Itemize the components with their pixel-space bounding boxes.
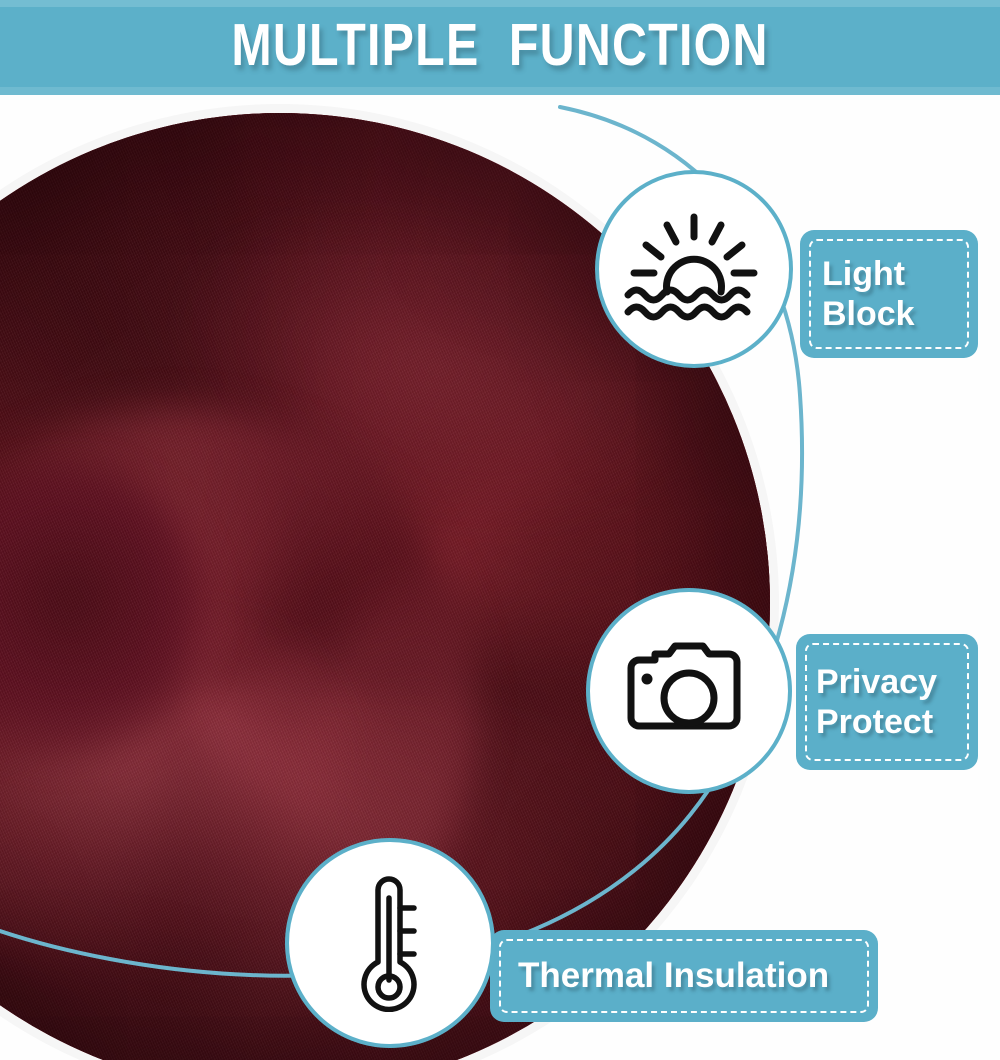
badge-label-thermal-insulation: Thermal Insulation (490, 930, 878, 1022)
thermometer-icon (347, 874, 433, 1012)
product-feature-infographic: MULTIPLE FUNCTION Light Block Privacy Pr… (0, 0, 1000, 1060)
sunrise-icon (624, 208, 764, 330)
badge-line-1: Privacy (816, 662, 937, 702)
feature-badge-privacy-protect[interactable]: Privacy Protect (796, 634, 978, 770)
badge-label-light-block: Light Block (800, 230, 978, 358)
camera-icon (625, 640, 753, 742)
badge-line-1: Thermal Insulation (518, 955, 829, 996)
feature-bubble-thermal-insulation[interactable] (285, 838, 495, 1048)
badge-line-2: Protect (816, 702, 933, 742)
feature-badge-thermal-insulation[interactable]: Thermal Insulation (490, 930, 878, 1022)
badge-label-privacy-protect: Privacy Protect (796, 634, 978, 770)
feature-bubble-light-block[interactable] (595, 170, 793, 368)
feature-bubble-privacy-protect[interactable] (586, 588, 792, 794)
badge-line-1: Light (822, 254, 905, 294)
badge-line-2: Block (822, 294, 915, 334)
camera-indicator-dot (642, 674, 653, 685)
header-banner: MULTIPLE FUNCTION (0, 0, 1000, 95)
feature-badge-light-block[interactable]: Light Block (800, 230, 978, 358)
page-title: MULTIPLE FUNCTION (90, 0, 910, 95)
